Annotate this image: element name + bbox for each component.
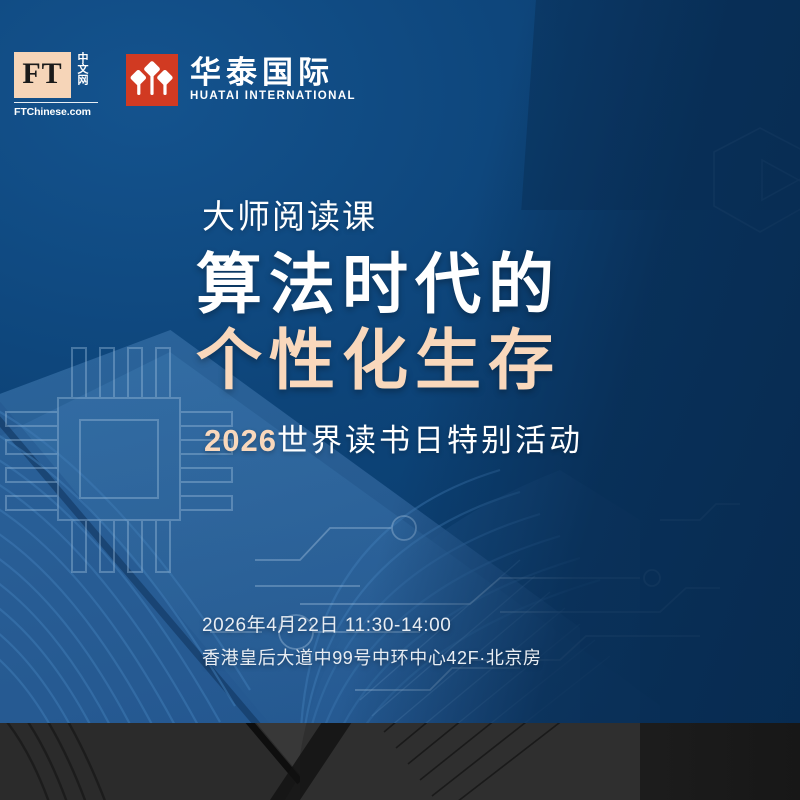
huatai-logo[interactable]: 华泰国际 HUATAI INTERNATIONAL xyxy=(126,54,356,106)
logo-row: FT 中文网 FTChinese.com xyxy=(14,52,356,118)
ft-domain-label: FTChinese.com xyxy=(14,106,98,118)
subtitle-text: 世界读书日特别活动 xyxy=(277,423,583,458)
huatai-mark-icon xyxy=(126,54,178,106)
event-poster: FT 中文网 FTChinese.com xyxy=(0,0,800,800)
eyebrow-text: 大师阅读课 xyxy=(202,200,716,233)
subtitle-year: 2026 xyxy=(204,423,277,458)
subtitle: 2026世界读书日特别活动 xyxy=(204,425,716,456)
headline-block: 大师阅读课 算法时代的 个性化生存 2026世界读书日特别活动 xyxy=(196,200,716,456)
huatai-wordmark: 华泰国际 HUATAI INTERNATIONAL xyxy=(190,57,356,103)
ft-divider xyxy=(14,102,98,103)
ft-monogram: FT xyxy=(14,52,71,98)
title-line-2: 个性化生存 xyxy=(196,327,716,395)
ft-chinese-logo[interactable]: FT 中文网 FTChinese.com xyxy=(14,52,98,118)
three-diamond-lollipop-icon xyxy=(126,54,178,106)
event-details: 2026年4月22日 11:30-14:00 香港皇后大道中99号中环中心42F… xyxy=(202,612,542,672)
huatai-chinese-name: 华泰国际 xyxy=(190,57,356,88)
event-date-time: 2026年4月22日 11:30-14:00 xyxy=(202,612,542,641)
ft-chinese-label: 中文网 xyxy=(74,52,89,98)
ft-logo-top: FT 中文网 xyxy=(14,52,98,98)
title-line-1: 算法时代的 xyxy=(196,251,716,319)
event-address: 香港皇后大道中99号中环中心42F·北京房 xyxy=(202,645,542,672)
huatai-english-name: HUATAI INTERNATIONAL xyxy=(190,91,356,103)
